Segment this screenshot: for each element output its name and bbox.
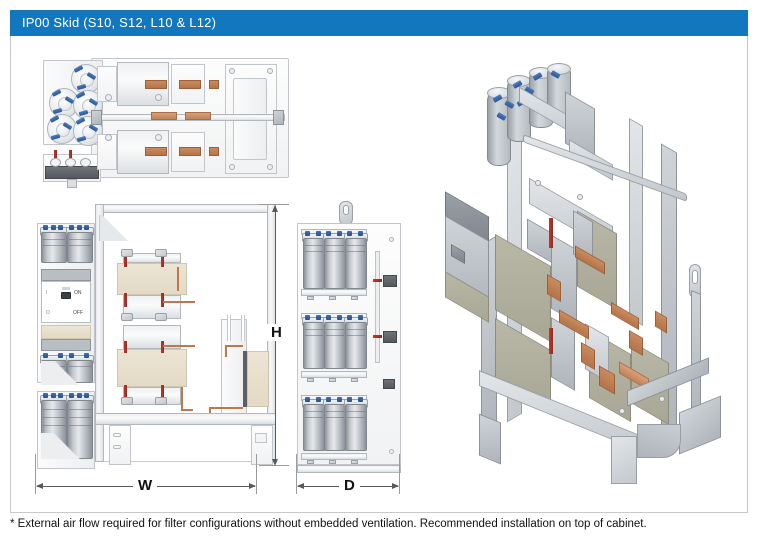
iso-bolt: [619, 408, 625, 414]
iso-base-foot-mid: [611, 436, 637, 484]
front-clamp-2: [155, 249, 167, 257]
plan-bolt: [267, 68, 273, 74]
side-foot-2a: [307, 378, 314, 382]
plan-cable-gland: [67, 179, 77, 188]
side-foot-2c: [351, 378, 358, 382]
capacitor-side-9: [345, 397, 365, 451]
iso-busbar-red-1: [549, 218, 553, 248]
plan-terminal-base: [45, 166, 99, 179]
dimension-height-label: H: [266, 324, 287, 341]
plan-bolt: [229, 68, 235, 74]
front-clamp-6: [155, 397, 167, 405]
capacitor-side-8: [324, 397, 344, 451]
plan-terminal-pole-2: [65, 158, 76, 167]
plan-busbar-2: [145, 147, 167, 156]
front-switch-panel[interactable]: ON OFF I O: [41, 281, 91, 323]
capacitor-front-1: [41, 225, 65, 263]
side-indicator-2: [373, 335, 382, 338]
front-top-gusset: [99, 215, 129, 241]
front-right-reactor: [247, 351, 269, 407]
front-top-rail: [101, 204, 273, 213]
figure-footnote: * External air flow required for filter …: [10, 518, 754, 530]
capacitor-side-6: [345, 315, 365, 369]
front-lead-1: [163, 301, 195, 303]
front-left-gusset-upper: [41, 361, 91, 385]
front-switch-footer: [41, 339, 91, 351]
iso-base-foot-right: [679, 396, 721, 455]
side-lifting-eye-hole: [343, 205, 349, 215]
front-right-unit-neck-1: [227, 315, 231, 341]
plan-bolt: [267, 164, 273, 170]
iso-bolt: [535, 180, 541, 186]
side-foot-1c: [351, 296, 358, 300]
side-shelf-2: [301, 371, 367, 378]
front-base-foot-right: [251, 425, 273, 465]
front-base-rail: [95, 413, 276, 425]
front-clamp-5: [121, 397, 133, 405]
plan-bolt: [105, 134, 112, 141]
front-busbar-red-6: [161, 341, 164, 353]
iso-base-foot-left: [479, 414, 501, 465]
plan-busbar-8: [209, 147, 219, 156]
iso-handle-post: [691, 290, 701, 422]
front-busbar-red-3: [124, 293, 127, 307]
front-left-reactor-strip: [41, 325, 91, 339]
side-elevation-view: [293, 201, 403, 476]
figure-title-bar: IP00 Skid (S10, S12, L10 & L12): [10, 10, 748, 36]
side-shelf-1: [301, 289, 367, 296]
capacitor-side-3: [345, 231, 365, 289]
capacitor-side-2: [324, 231, 344, 289]
plan-indicator-2: [69, 150, 72, 158]
drawing-canvas: ON OFF I O: [10, 36, 748, 513]
plan-terminal-pole-3: [80, 158, 91, 167]
front-lead-4: [181, 387, 183, 411]
side-block-2: [383, 331, 397, 343]
front-busbar-red-8: [161, 385, 164, 397]
side-block-3: [383, 379, 395, 389]
front-clamp-3: [121, 313, 133, 321]
plan-busbar-1: [145, 80, 167, 89]
side-block-1: [383, 275, 397, 287]
plan-bolt: [229, 164, 235, 170]
front-clamp-1: [121, 249, 133, 257]
front-busbar-red-5: [124, 341, 127, 353]
front-right-lead-drop: [225, 345, 227, 357]
capacitor-side-5: [324, 315, 344, 369]
side-shelf-3: [301, 453, 367, 460]
plan-terminal-pole-1: [50, 158, 61, 167]
front-lead-5: [181, 409, 193, 411]
front-base-slot-1: [113, 433, 121, 437]
front-right-core: [243, 351, 247, 407]
iso-lifting-handle-hole: [692, 270, 698, 284]
side-indicator-1: [373, 279, 382, 282]
plan-bolt: [105, 94, 112, 101]
iso-bolt: [659, 396, 665, 402]
iso-bolt: [577, 194, 583, 200]
switch-mark-i: I: [46, 290, 47, 296]
plan-bolt: [155, 134, 162, 141]
plan-busbar-6: [185, 112, 211, 120]
front-clamp-4: [155, 313, 167, 321]
plan-view: [29, 54, 289, 189]
capacitor-side-1: [303, 231, 323, 289]
side-bolt-1: [389, 237, 394, 242]
switch-on-label: ON: [74, 290, 82, 296]
page-title: IP00 Skid (S10, S12, L10 & L12): [22, 15, 216, 30]
iso-post-mid-right: [629, 118, 643, 326]
capacitor-side-4: [303, 315, 323, 369]
front-left-gusset-lower: [41, 433, 91, 459]
plan-rod-end-left: [91, 110, 102, 125]
front-busbar-red-4: [161, 293, 164, 307]
front-switch-header: [41, 269, 91, 281]
side-foot-1b: [329, 296, 336, 300]
figure-page: IP00 Skid (S10, S12, L10 & L12): [0, 0, 758, 540]
iso-base-gusset: [637, 424, 681, 458]
capacitor-side-7: [303, 397, 323, 451]
side-right-rail: [375, 251, 380, 363]
plan-indicator-1: [54, 150, 57, 158]
plan-busbar-3: [179, 80, 201, 89]
front-nameplate: [255, 433, 267, 443]
front-reactor-2: [117, 349, 187, 387]
side-foot-3a: [307, 460, 314, 464]
capacitor-front-2: [67, 225, 91, 263]
front-switch-slot: [62, 287, 70, 290]
front-right-lead-bottom: [209, 407, 243, 409]
dimension-depth-label: D: [339, 477, 360, 494]
dimension-width-label: W: [133, 477, 157, 494]
switch-mark-o: O: [46, 310, 50, 316]
side-foot-1a: [307, 296, 314, 300]
front-right-lead-top: [225, 345, 243, 347]
side-bolt-2: [389, 449, 394, 454]
front-lead-3: [177, 267, 179, 291]
plan-busbar-4: [179, 147, 201, 156]
front-switch-lever[interactable]: [61, 292, 71, 299]
iso-busbar-red-2: [549, 328, 553, 354]
plan-busbar-7: [209, 80, 219, 89]
switch-off-label: OFF: [73, 310, 83, 316]
front-busbar-red-7: [124, 385, 127, 397]
front-lead-2: [163, 345, 195, 347]
side-foot-3b: [329, 460, 336, 464]
side-base-rail: [297, 465, 401, 473]
front-right-unit-neck-2: [241, 315, 245, 341]
front-base-slot-2: [113, 445, 121, 449]
plan-bolt: [155, 94, 162, 101]
side-foot-2b: [329, 378, 336, 382]
plan-busbar-5: [151, 112, 177, 120]
front-elevation-view: ON OFF I O: [29, 201, 279, 476]
isometric-view: [423, 52, 743, 502]
side-foot-3c: [351, 460, 358, 464]
plan-rod-end-right: [273, 110, 284, 125]
